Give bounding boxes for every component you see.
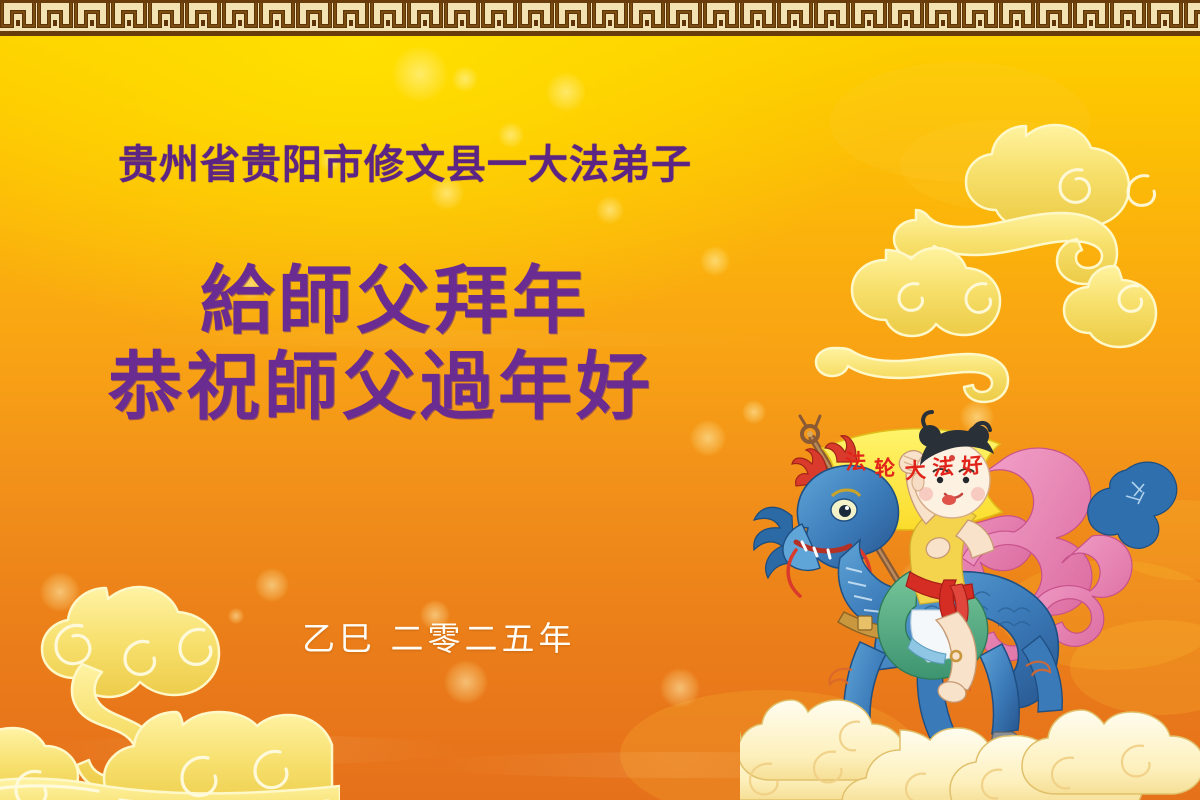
bokeh-light [700,246,730,276]
background-cloud-shape [1000,560,1200,670]
banner-text: 法 轮 大 法 好 [843,423,999,503]
new-year-greeting-card: 贵州省贵阳市修文县一大法弟子 給師父拜年 恭祝師父過年好 乙巳 二零二五年 [0,0,1200,800]
date-text: 乙巳 二零二五年 [302,612,576,660]
auspicious-cloud-top-right [790,48,1200,408]
greek-key-icon [0,0,1200,36]
background-streak [40,735,460,765]
bokeh-light [660,668,700,708]
top-meander-border [0,0,1200,36]
pink-ribbon [920,448,1132,661]
dragon-tail-tassel [1088,462,1177,548]
banner-flag [822,429,1002,530]
background-streak [420,752,940,778]
bokeh-light [742,400,766,424]
bokeh-light [546,72,586,112]
banner-char-4: 好 [960,449,984,481]
bokeh-light [960,400,994,434]
bokeh-light [596,196,624,224]
base-clouds [740,700,1200,800]
banner-pole [800,416,902,588]
background-cloud-shape [1110,500,1200,580]
banner-char-1: 轮 [874,452,897,483]
auspicious-cloud-bottom-left [0,546,340,800]
greeting-line-1: 給師父拜年 [108,262,654,340]
background-cloud-shape [900,120,1100,210]
bokeh-light [40,572,80,612]
banner-char-0: 法 [845,446,867,476]
background-cloud-shape [1070,620,1200,715]
child-rider [878,412,994,705]
background-cloud-shape [830,62,1090,182]
bokeh-light [452,66,478,92]
bokeh-light [392,46,448,102]
greeting-line-2: 恭祝師父過年好 [108,348,654,426]
cloud-swirls [750,722,1150,800]
background-cloud-shape [620,690,920,800]
dragon [754,436,1063,798]
bokeh-light [690,420,726,456]
banner-char-2: 大 [904,454,927,485]
child-riding-dragon-illustration [740,400,1200,800]
banner-char-3: 法 [931,450,955,482]
bokeh-light [228,608,244,624]
bokeh-light [444,660,488,704]
bokeh-light [255,568,289,602]
greeting-block: 給師父拜年 恭祝師父過年好 [108,262,654,427]
page-title: 贵州省贵阳市修文县一大法弟子 [118,132,692,190]
bokeh-light [898,560,944,606]
